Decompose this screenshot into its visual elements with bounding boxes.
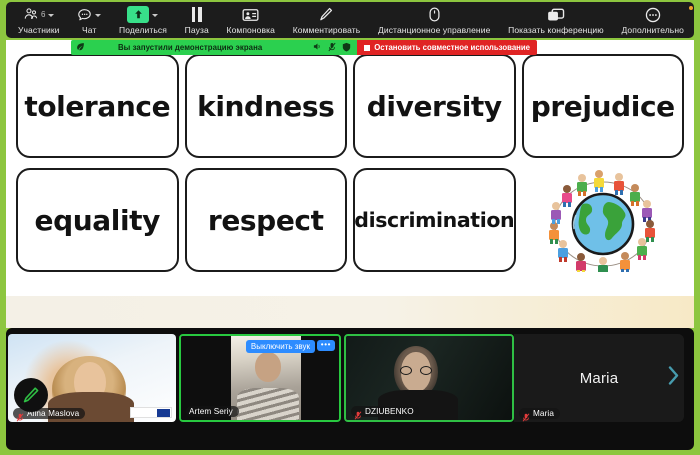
chevron-right-icon[interactable] <box>666 365 680 392</box>
mic-muted-icon[interactable] <box>328 42 336 54</box>
participant-tile[interactable]: Maria Maria <box>514 334 684 422</box>
toolbar-item-layout[interactable]: Компоновка <box>227 3 275 36</box>
word-card: respect <box>185 168 348 272</box>
shield-icon[interactable] <box>342 42 351 54</box>
chevron-down-icon[interactable] <box>95 14 101 17</box>
vocabulary-card-grid: tolerance kindness diversity prejudice e… <box>6 48 694 278</box>
participants-icon <box>23 8 38 21</box>
participant-name: DZIUBENKO <box>365 407 414 416</box>
sharing-banner-icons <box>313 42 351 54</box>
mute-participant-button[interactable]: Выключить звук <box>246 340 315 353</box>
globe-illustration <box>522 168 685 272</box>
participant-tile[interactable]: Alina Maslova <box>8 334 176 422</box>
participant-tile[interactable]: Выключить звук ••• Artem Seriy <box>179 334 341 422</box>
word-card-label: equality <box>35 204 161 237</box>
toolbar-label-more: Дополнительно <box>621 25 683 36</box>
mic-muted-icon <box>522 409 530 418</box>
sharing-status-text: Вы запустили демонстрацию экрана <box>90 43 308 52</box>
participant-name: Artem Seriy <box>189 407 233 416</box>
participant-name-badge: DZIUBENKO <box>351 406 420 417</box>
word-card-label: kindness <box>197 90 334 123</box>
word-card: prejudice <box>522 54 685 158</box>
participants-count: 6 <box>41 10 45 19</box>
chevron-down-icon[interactable] <box>48 14 54 17</box>
word-card: discrimination <box>353 168 516 272</box>
word-card-label: tolerance <box>24 90 170 123</box>
more-notification-badge <box>689 6 693 10</box>
toolbar-label-show-meeting: Показать конференцию <box>508 25 604 36</box>
stop-sharing-label: Остановить совместное использование <box>374 43 530 52</box>
annotate-pencil-icon[interactable] <box>14 378 48 412</box>
toolbar-item-share[interactable]: Поделиться <box>119 3 167 36</box>
pause-icon <box>192 7 202 22</box>
layout-icon <box>242 8 259 22</box>
toolbar-label-layout: Компоновка <box>227 25 275 36</box>
toolbar-label-participants: Участники <box>18 25 60 36</box>
word-card-label: diversity <box>367 90 502 123</box>
eu-flag-overlay <box>130 407 172 418</box>
chevron-down-icon[interactable] <box>152 14 158 17</box>
participant-tiles: Alina Maslova Выключить звук ••• Artem S… <box>8 334 684 422</box>
sharing-status-green: Вы запустили демонстрацию экрана <box>71 40 357 55</box>
participant-tile[interactable]: DZIUBENKO <box>344 334 514 422</box>
stop-square-icon <box>364 45 370 51</box>
toolbar-label-annotate: Комментировать <box>293 25 361 36</box>
zoom-meeting-window: 6 Участники Чат <box>0 0 700 455</box>
toolbar-item-show-meeting[interactable]: Показать конференцию <box>508 3 604 36</box>
toolbar-item-annotate[interactable]: Комментировать <box>293 3 361 36</box>
toolbar-label-chat: Чат <box>82 25 96 36</box>
word-card-label: prejudice <box>531 90 675 123</box>
show-meeting-icon <box>547 8 565 22</box>
toolbar-label-remote-control: Дистанционное управление <box>378 25 490 36</box>
more-dots-icon <box>645 7 661 23</box>
toolbar-label-share: Поделиться <box>119 25 167 36</box>
shared-screen-content: tolerance kindness diversity prejudice e… <box>6 40 694 298</box>
toolbar-item-remote-control[interactable]: Дистанционное управление <box>378 3 490 36</box>
word-card-label: discrimination <box>354 208 514 232</box>
remote-control-icon <box>429 7 440 22</box>
slide-bottom-band <box>6 296 694 328</box>
participant-more-button[interactable]: ••• <box>317 340 335 351</box>
word-card: tolerance <box>16 54 179 158</box>
stop-sharing-button[interactable]: Остановить совместное использование <box>357 40 537 55</box>
screen-share-toolbar: 6 Участники Чат <box>6 2 694 38</box>
participant-name-badge: Maria <box>519 408 560 419</box>
mic-muted-icon <box>354 407 362 416</box>
share-screen-icon[interactable] <box>127 6 149 23</box>
globe-with-children-icon <box>543 168 663 272</box>
toolbar-item-chat[interactable]: Чат <box>77 3 101 36</box>
word-card-label: respect <box>208 204 324 237</box>
participant-name: Maria <box>533 409 554 418</box>
word-card: equality <box>16 168 179 272</box>
toolbar-item-pause[interactable]: Пауза <box>185 3 209 36</box>
participant-name-badge: Artem Seriy <box>186 406 239 417</box>
speaker-icon[interactable] <box>313 42 322 53</box>
word-card: kindness <box>185 54 348 158</box>
sharing-status-banner: Вы запустили демонстрацию экрана Останов… <box>71 40 537 55</box>
toolbar-item-more[interactable]: Дополнительно <box>621 3 683 36</box>
leaf-icon <box>76 42 85 53</box>
toolbar-label-pause: Пауза <box>185 25 209 36</box>
annotate-pencil-icon <box>319 7 333 22</box>
toolbar-item-participants[interactable]: 6 Участники <box>18 3 60 36</box>
chat-icon <box>77 8 92 22</box>
word-card: diversity <box>353 54 516 158</box>
